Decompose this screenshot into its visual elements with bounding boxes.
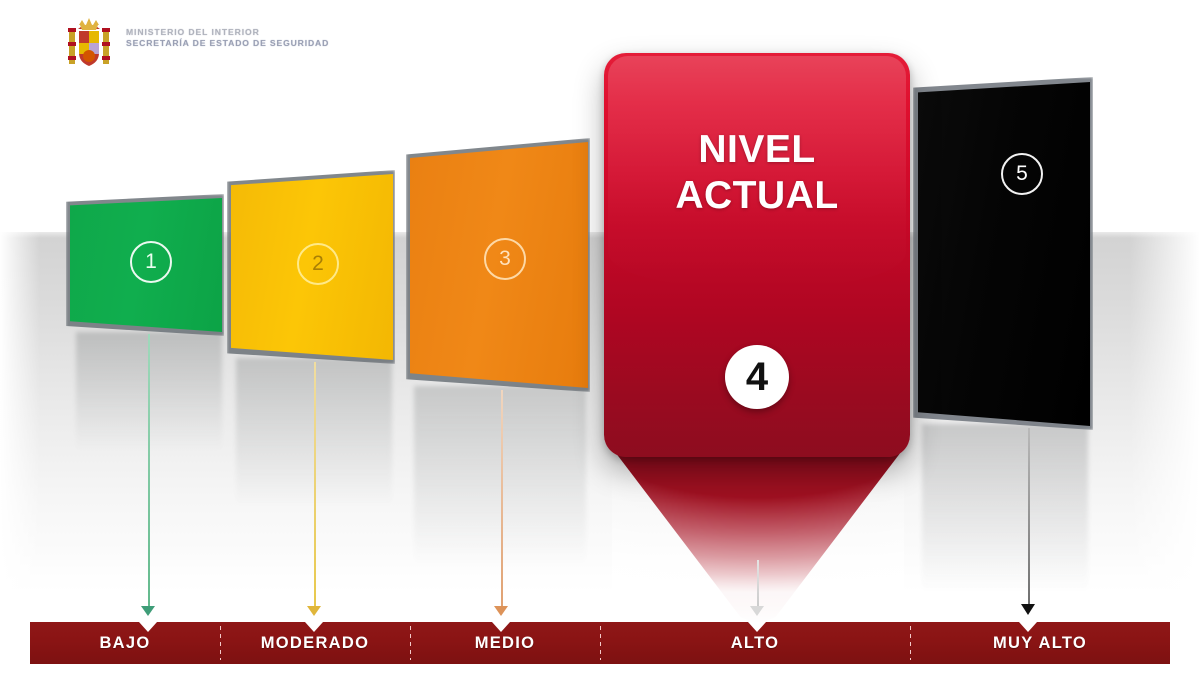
connector-line-4	[757, 560, 759, 612]
connector-pointer-3	[494, 606, 508, 616]
bar-notch-1	[139, 622, 157, 632]
level-label-bar: BAJO MODERADO MEDIO ALTO MUY ALTO	[30, 622, 1170, 664]
connector-line-2	[314, 362, 316, 612]
current-level-caption: NIVEL ACTUAL	[604, 127, 910, 218]
level-label-muy-alto[interactable]: MUY ALTO	[910, 622, 1170, 664]
connector-pointer-1	[141, 606, 155, 616]
ministry-line-1: MINISTERIO DEL INTERIOR	[126, 27, 329, 38]
level-panel-1[interactable]: 1	[70, 198, 222, 332]
level-panel-3[interactable]: 3	[410, 142, 588, 388]
bar-notch-5	[1019, 622, 1037, 632]
ministry-wordmark: MINISTERIO DEL INTERIOR SECRETARÍA DE ES…	[126, 27, 329, 49]
header: MINISTERIO DEL INTERIOR SECRETARÍA DE ES…	[0, 0, 1200, 90]
level-panel-2[interactable]: 2	[231, 174, 393, 360]
level-number-5: 5	[1001, 153, 1043, 195]
connector-line-3	[501, 390, 503, 612]
level-number-2: 2	[297, 243, 339, 285]
connector-line-5	[1028, 428, 1030, 612]
connector-pointer-2	[307, 606, 321, 616]
panel-face-5	[918, 82, 1090, 426]
level-panel-4-current[interactable]: NIVEL ACTUAL 4	[604, 53, 910, 457]
spanish-coat-of-arms-icon	[58, 12, 120, 74]
bar-notch-2	[305, 622, 323, 632]
ministry-line-2: SECRETARÍA DE ESTADO DE SEGURIDAD	[126, 38, 329, 49]
level-number-1: 1	[130, 241, 172, 283]
connector-line-1	[148, 334, 150, 612]
level-panel-5[interactable]: 5	[918, 82, 1090, 426]
bar-notch-3	[492, 622, 510, 632]
connector-pointer-4	[750, 606, 764, 616]
current-level-caption-line1: NIVEL	[604, 127, 910, 173]
current-level-number: 4	[725, 345, 789, 409]
current-level-caption-line2: ACTUAL	[604, 173, 910, 219]
connector-pointer-5	[1021, 604, 1035, 615]
alert-level-scale: MINISTERIO DEL INTERIOR SECRETARÍA DE ES…	[0, 0, 1200, 675]
level-panels: 1 2 3 5 NIVEL ACTUAL 4	[0, 0, 1200, 675]
level-label-bajo[interactable]: BAJO	[30, 622, 220, 664]
bar-notch-4	[748, 622, 766, 632]
level-number-3: 3	[484, 238, 526, 280]
